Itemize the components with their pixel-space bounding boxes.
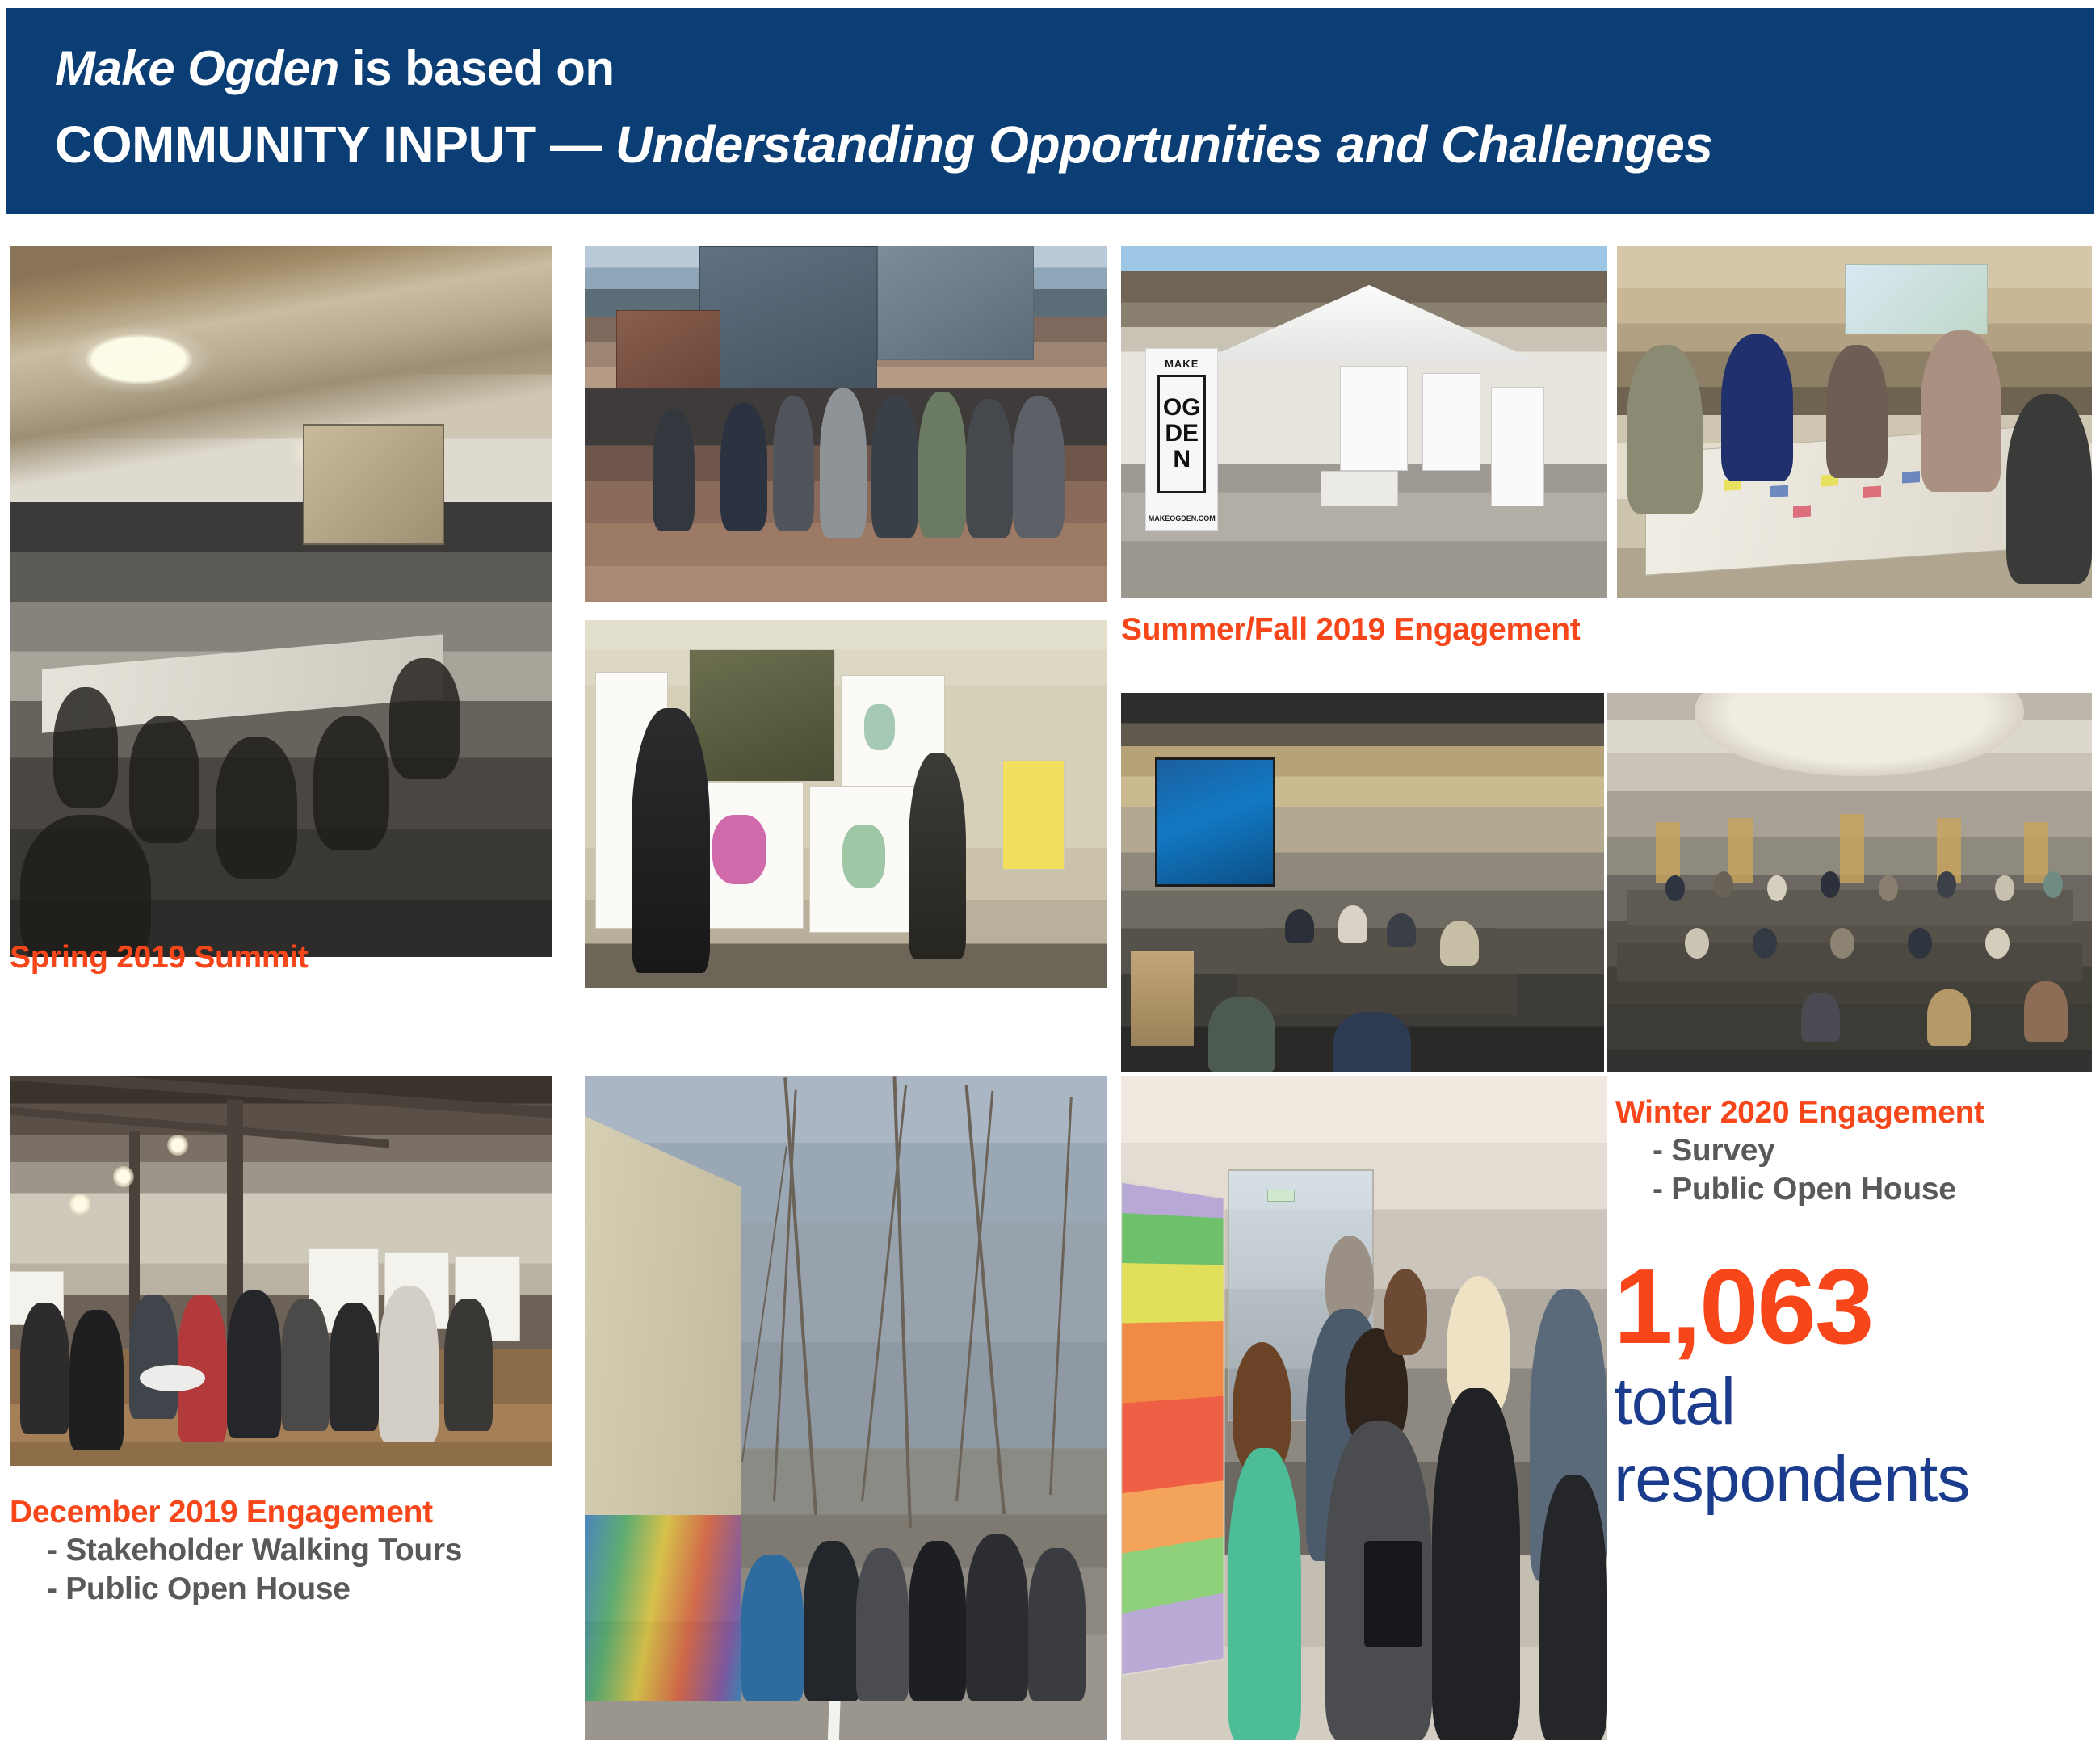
charrette-participant [1826,345,1888,478]
auditorium-podium [1131,951,1194,1047]
lobby-attendee [1432,1388,1519,1740]
tent-canopy [1199,285,1539,363]
photo-auditorium-presenter [1121,693,1604,1072]
header-is-based-on: is based on [339,41,615,95]
pendant-lamp-icon [113,1166,134,1187]
tree-branch [964,1085,1006,1515]
summit-seat [20,815,150,957]
header-community-input: COMMUNITY INPUT [55,115,536,174]
open-house-attendee [20,1303,69,1435]
charrette-participant [1721,334,1792,482]
wall-map [689,649,835,782]
tree-branch [741,1146,787,1462]
tree-branch [892,1076,912,1528]
wall-pillar [1840,814,1864,883]
audience-head [1665,875,1685,902]
tour-walker [1028,1548,1086,1701]
audience-head [1714,871,1733,898]
plan-sticky [1794,506,1812,518]
map-shape [864,704,895,750]
caption-december-engagement: December 2019 Engagement - Stakeholder W… [10,1494,462,1609]
photo-plaza-crowd [585,246,1107,602]
auditorium-attendee [1338,905,1367,943]
summit-seat [313,716,389,850]
audience-head [1830,928,1854,959]
plan-sticky [1770,485,1788,498]
header-make-ogden-italic: Make Ogden [55,41,339,95]
audience-row [1607,1004,2092,1049]
open-house-attendee [129,1295,178,1419]
tree-branch [783,1077,817,1514]
auditorium-attendee [1208,997,1276,1072]
summit-wall-screen-icon [303,424,444,545]
presentation-slide: Make Ogden is based on COMMUNITY INPUT —… [0,0,2100,1750]
maps-presenter [632,708,710,973]
tent-flipchart [1491,387,1544,506]
open-house-attendee [69,1310,124,1450]
caption-summer-fall-engagement: Summer/Fall 2019 Engagement [1121,611,1580,648]
header-line-1: Make Ogden is based on [55,39,2094,99]
auditorium-attendee [1333,1012,1411,1072]
tent-table [1321,471,1398,506]
make-ogden-banner: MAKE OG DE N MAKEOGDEN.COM [1145,348,1218,531]
attendee-hair [1384,1269,1427,1355]
banner-line-n: N [1173,447,1191,472]
plan-sticky [1863,486,1881,499]
handbag [1364,1541,1422,1647]
wall-pillar [2024,822,2048,883]
tour-walker [909,1541,966,1700]
auditorium-projection-screen [1155,757,1276,887]
open-house-attendee [281,1299,330,1431]
wall-pillar [1728,818,1753,883]
charrette-participant [2006,394,2092,584]
tent-display-board [1422,373,1480,472]
tour-walker [741,1555,804,1701]
map-shape [712,815,766,884]
caption-december-title: December 2019 Engagement [10,1494,462,1531]
plaza-building [699,246,877,388]
auditorium-attendee [1440,921,1479,966]
plaza-person [653,409,695,531]
stat-total-number: 1,063 [1614,1250,2100,1363]
tent-display-board [1340,366,1408,472]
summit-seat [216,737,297,879]
open-house-attendee [379,1286,439,1442]
audience-head [2043,871,2063,898]
caption-december-bullet-1: - Stakeholder Walking Tours [10,1531,462,1570]
plaza-person [871,396,918,538]
header-dash: — [536,115,615,174]
lobby-attendee [1228,1448,1300,1740]
heat-map-poster [1121,1181,1225,1676]
caption-winter-engagement: Winter 2020 Engagement - Survey - Public… [1615,1094,1984,1209]
audience-head [2024,981,2068,1042]
cocktail-table [140,1365,205,1392]
photo-wall-maps-presentation [585,620,1107,988]
caption-winter-bullet-2: - Public Open House [1615,1170,1984,1209]
banner-line-og: OG [1163,396,1201,420]
tour-walker [804,1541,861,1700]
map-shape [842,825,885,888]
slide-header-bar: Make Ogden is based on COMMUNITY INPUT —… [6,8,2094,214]
audience-head [1821,871,1840,898]
auditorium-attendee [1285,909,1314,943]
caption-spring-2019-summit: Spring 2019 Summit [10,939,309,976]
banner-og-den-box: OG DE N [1157,375,1206,494]
lobby-attendee [1539,1475,1607,1740]
caption-winter-title: Winter 2020 Engagement [1615,1094,1984,1131]
caption-december-bullet-2: - Public Open House [10,1570,462,1609]
header-line-2: COMMUNITY INPUT — Understanding Opportun… [55,113,2094,176]
plaza-person [918,392,965,537]
pendant-lamp-icon [69,1194,90,1215]
photo-walking-tour [585,1076,1107,1740]
plaza-person [1013,396,1065,538]
wall-flipchart [1002,760,1065,871]
pendant-lamp-icon [167,1135,188,1156]
photo-outreach-tent: MAKE OG DE N MAKEOGDEN.COM [1121,246,1607,598]
respondents-stat-block: 1,063 total respondents [1614,1250,2100,1518]
summit-seat [53,687,119,808]
auditorium-desk-row [1237,974,1518,1016]
open-house-attendee [227,1290,281,1438]
stat-total-label: total respondents [1614,1363,2100,1518]
audience-head [1767,875,1787,902]
audience-head [1879,875,1898,902]
photo-december-open-house [10,1076,552,1466]
plaza-building [616,310,720,388]
caption-spring-title: Spring 2019 Summit [10,939,309,976]
caption-summer-fall-title: Summer/Fall 2019 Engagement [1121,611,1580,648]
tour-walker [856,1548,909,1701]
photo-auditorium-audience [1607,693,2092,1072]
exit-sign-icon [1267,1190,1295,1202]
banner-make-word: MAKE [1146,358,1217,370]
tree-branch [955,1091,993,1501]
photo-spring-summit [10,246,552,957]
plaza-building [877,246,1034,360]
plaza-person [773,396,815,531]
caption-winter-bullet-1: - Survey [1615,1131,1984,1170]
open-house-attendee [330,1303,378,1431]
banner-url: MAKEOGDEN.COM [1146,514,1217,522]
photo-charrette-table [1617,246,2092,598]
mural-art [585,1515,741,1701]
audience-head [1985,928,2010,959]
charrette-participant [1921,330,2001,492]
banner-line-de: DE [1165,422,1199,446]
charrette-projection-icon [1845,264,1987,334]
plan-sticky [1902,471,1920,484]
open-house-attendee [444,1299,493,1431]
tour-walker [966,1534,1029,1701]
charrette-participant [1627,345,1703,514]
ceiling-beam [10,1076,552,1118]
summit-seat [129,716,199,843]
audience-head [1753,928,1777,959]
audience-head [1908,928,1932,959]
plaza-person [720,403,767,531]
tree-branch [1049,1097,1073,1495]
ceiling-beam [10,1106,389,1148]
audience-head [1801,993,1840,1042]
audience-head [1937,871,1956,898]
audience-head [1995,875,2014,902]
photo-winter-lobby-open-house [1121,1076,1607,1740]
maps-speaker [909,753,966,959]
audience-head [1685,928,1709,959]
auditorium-attendee [1387,913,1416,947]
header-subtitle-italic: Understanding Opportunities and Challeng… [615,115,1713,174]
audience-head [1927,989,1971,1047]
auditorium-ceiling-dome [1695,693,2024,776]
summit-seat [389,658,460,779]
wall-pillar [1656,822,1680,883]
plaza-person [820,388,867,538]
plaza-person [966,399,1013,538]
